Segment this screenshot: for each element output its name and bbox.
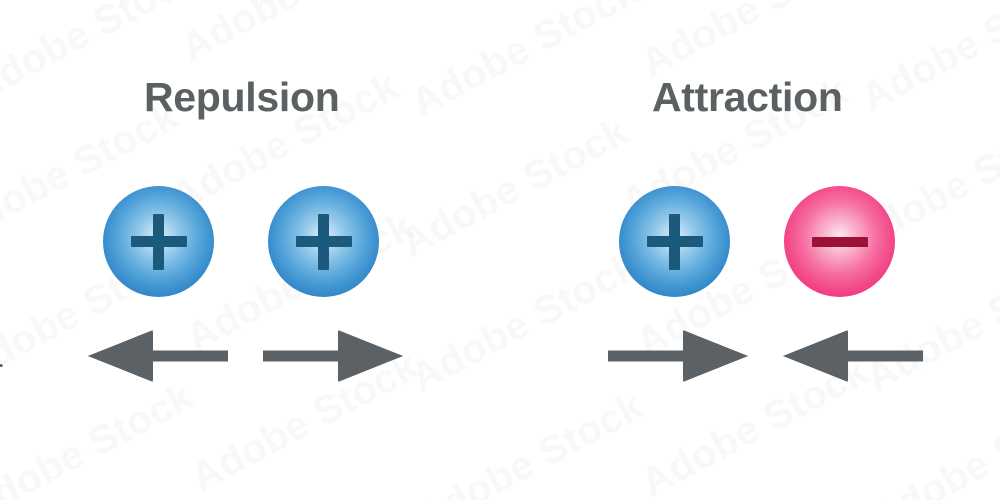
panel-title-repulsion: Repulsion [144,74,339,121]
watermark-tile: Adobe Stock [174,0,416,71]
particle-positive-charge[interactable] [619,186,730,297]
force-arrow-left-icon [783,326,923,386]
watermark-tile: Adobe Stock [404,0,646,126]
particle-positive-charge[interactable] [268,186,379,297]
force-arrow-left-icon [88,326,228,386]
particle-positive-charge[interactable] [103,186,214,297]
force-arrow-right-icon [608,326,748,386]
panel-title-attraction: Attraction [652,74,843,121]
watermark-tile: Adobe Stock [394,109,636,266]
particle-negative-charge[interactable] [784,186,895,297]
watermark-tile: Adobe Stock [409,384,651,500]
force-arrow-right-icon [263,326,403,386]
diagram-canvas: Adobe Stock Adobe Stock Adobe Stock Adob… [0,0,1000,500]
watermark-tile: Adobe Stock [0,374,201,500]
plus-sign-icon [131,214,187,270]
plus-sign-icon [296,214,352,270]
watermark-tile: Adobe Stock [854,0,1000,121]
stock-credit-label: Adobe Stock | #598458109 [0,250,4,492]
watermark-tile: Adobe Stock [864,384,1000,500]
minus-sign-icon [812,214,868,270]
plus-sign-icon [647,214,703,270]
